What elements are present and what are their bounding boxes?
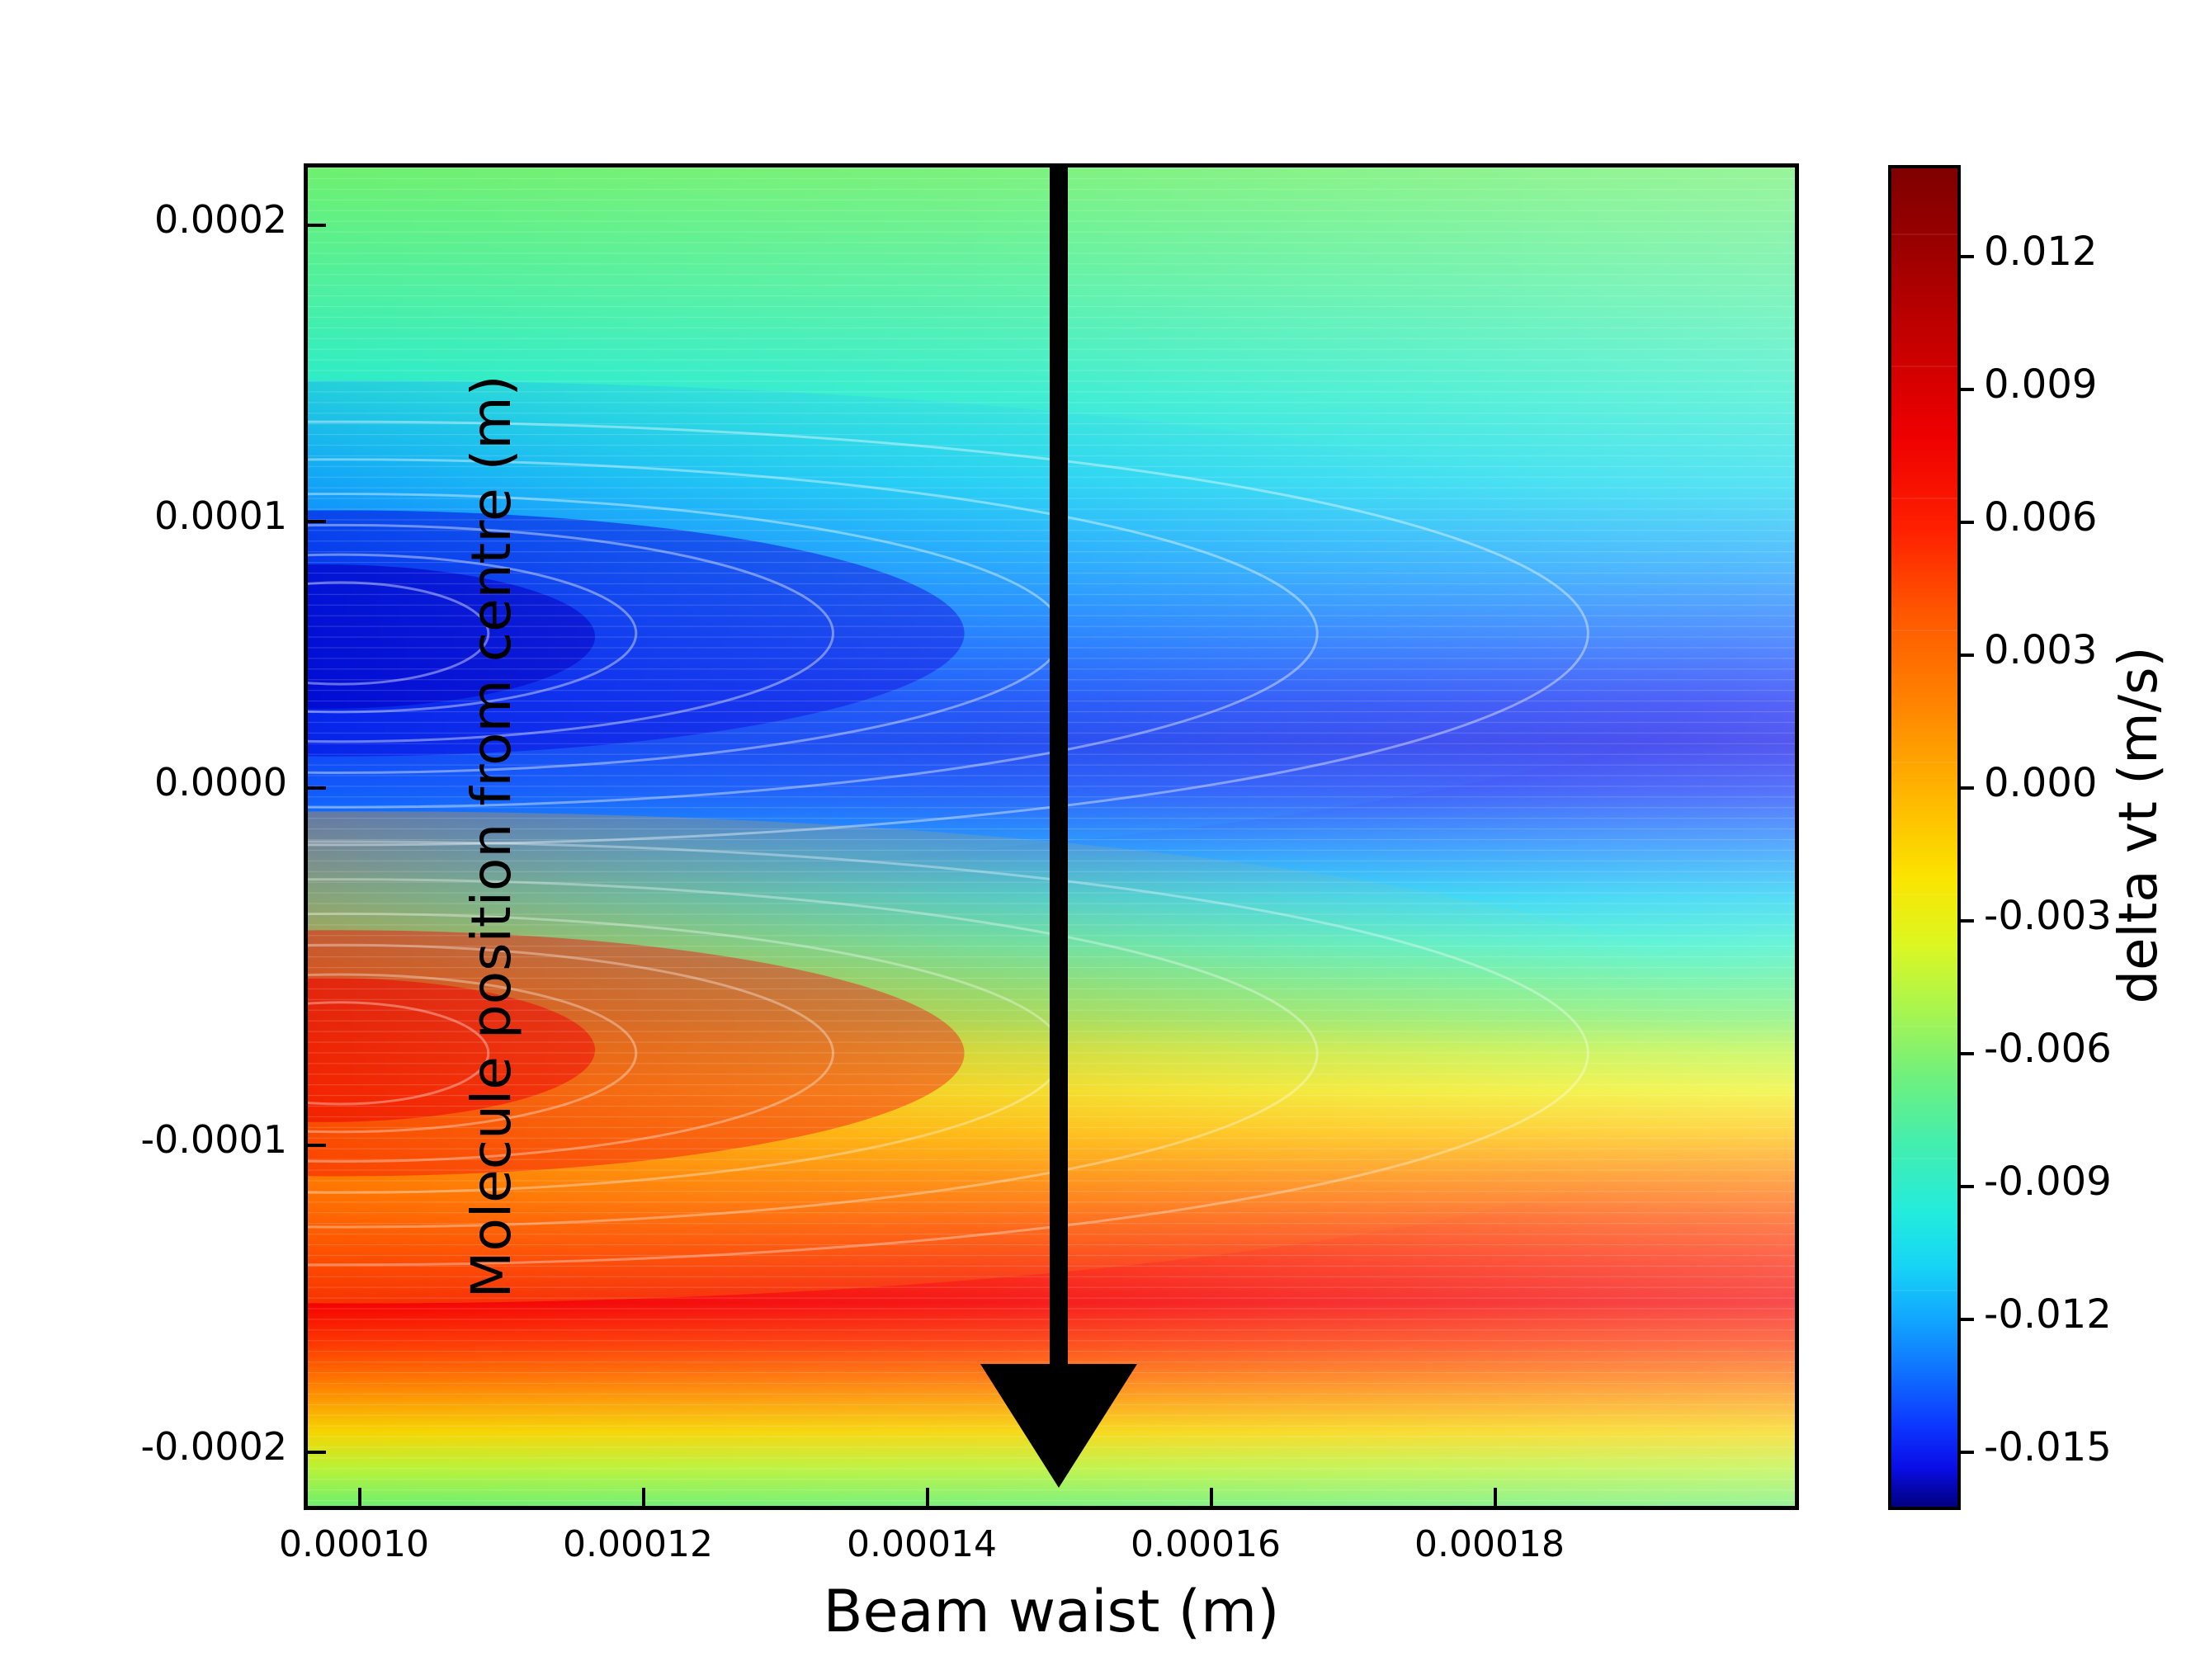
x-tick-3 xyxy=(1210,1488,1213,1506)
y-ticklabel-3: -0.0001 xyxy=(140,1117,287,1162)
y-tick-1 xyxy=(308,520,326,523)
colorbar-tick-2 xyxy=(1957,521,1974,524)
x-tick-0 xyxy=(358,1488,361,1506)
colorbar-ticklabel-5: -0.003 xyxy=(1984,893,2112,939)
contour-surface xyxy=(308,168,1795,1506)
colorbar-ticklabel-0: 0.012 xyxy=(1984,229,2097,275)
y-ticklabel-1: 0.0001 xyxy=(154,493,287,538)
colorbar-ticklabel-1: 0.009 xyxy=(1984,361,2097,408)
x-ticklabel-3: 0.00016 xyxy=(1131,1523,1281,1565)
y-tick-2 xyxy=(308,786,326,790)
colorbar-ticklabel-6: -0.006 xyxy=(1984,1026,2112,1072)
colorbar-tick-7 xyxy=(1957,1185,1974,1188)
y-ticklabel-0: 0.0002 xyxy=(154,197,287,242)
y-ticklabel-4: -0.0002 xyxy=(140,1424,287,1469)
colorbar-ticklabel-4: 0.000 xyxy=(1984,760,2097,806)
x-ticklabel-1: 0.00012 xyxy=(563,1523,713,1565)
plot-axes xyxy=(304,163,1799,1510)
colorbar xyxy=(1888,165,1961,1510)
x-tick-4 xyxy=(1494,1488,1497,1506)
x-tick-1 xyxy=(642,1488,645,1506)
y-tick-4 xyxy=(308,1451,326,1454)
y-ticklabel-2: 0.0000 xyxy=(154,760,287,805)
colorbar-ticklabel-2: 0.006 xyxy=(1984,494,2097,540)
colorbar-ticklabel-3: 0.003 xyxy=(1984,627,2097,673)
colorbar-tick-8 xyxy=(1957,1318,1974,1321)
colorbar-tick-3 xyxy=(1957,654,1974,657)
colorbar-tick-4 xyxy=(1957,786,1974,790)
colorbar-tick-0 xyxy=(1957,255,1974,258)
colorbar-title: delta vt (m/s) xyxy=(2108,647,2170,1004)
colorbar-tick-5 xyxy=(1957,919,1974,923)
colorbar-ticklabel-7: -0.009 xyxy=(1984,1159,2112,1205)
x-ticklabel-0: 0.00010 xyxy=(279,1523,429,1565)
colorbar-tick-6 xyxy=(1957,1052,1974,1055)
contour-field xyxy=(308,168,1795,1506)
y-tick-3 xyxy=(308,1144,326,1147)
x-ticklabel-4: 0.00018 xyxy=(1414,1523,1565,1565)
colorbar-gradient xyxy=(1891,168,1957,1507)
colorbar-tick-1 xyxy=(1957,388,1974,391)
x-tick-2 xyxy=(926,1488,929,1506)
figure-canvas: 0.00010 0.00012 0.00014 0.00016 0.00018 … xyxy=(0,0,2205,1680)
x-ticklabel-2: 0.00014 xyxy=(847,1523,997,1565)
y-axis-title: Molecule position from centre (m) xyxy=(460,375,523,1299)
colorbar-tick-9 xyxy=(1957,1451,1974,1454)
colorbar-ticklabel-9: -0.015 xyxy=(1984,1424,2112,1470)
colorbar-ticklabel-8: -0.012 xyxy=(1984,1291,2112,1338)
y-tick-0 xyxy=(308,224,326,227)
x-axis-title: Beam waist (m) xyxy=(824,1578,1280,1645)
